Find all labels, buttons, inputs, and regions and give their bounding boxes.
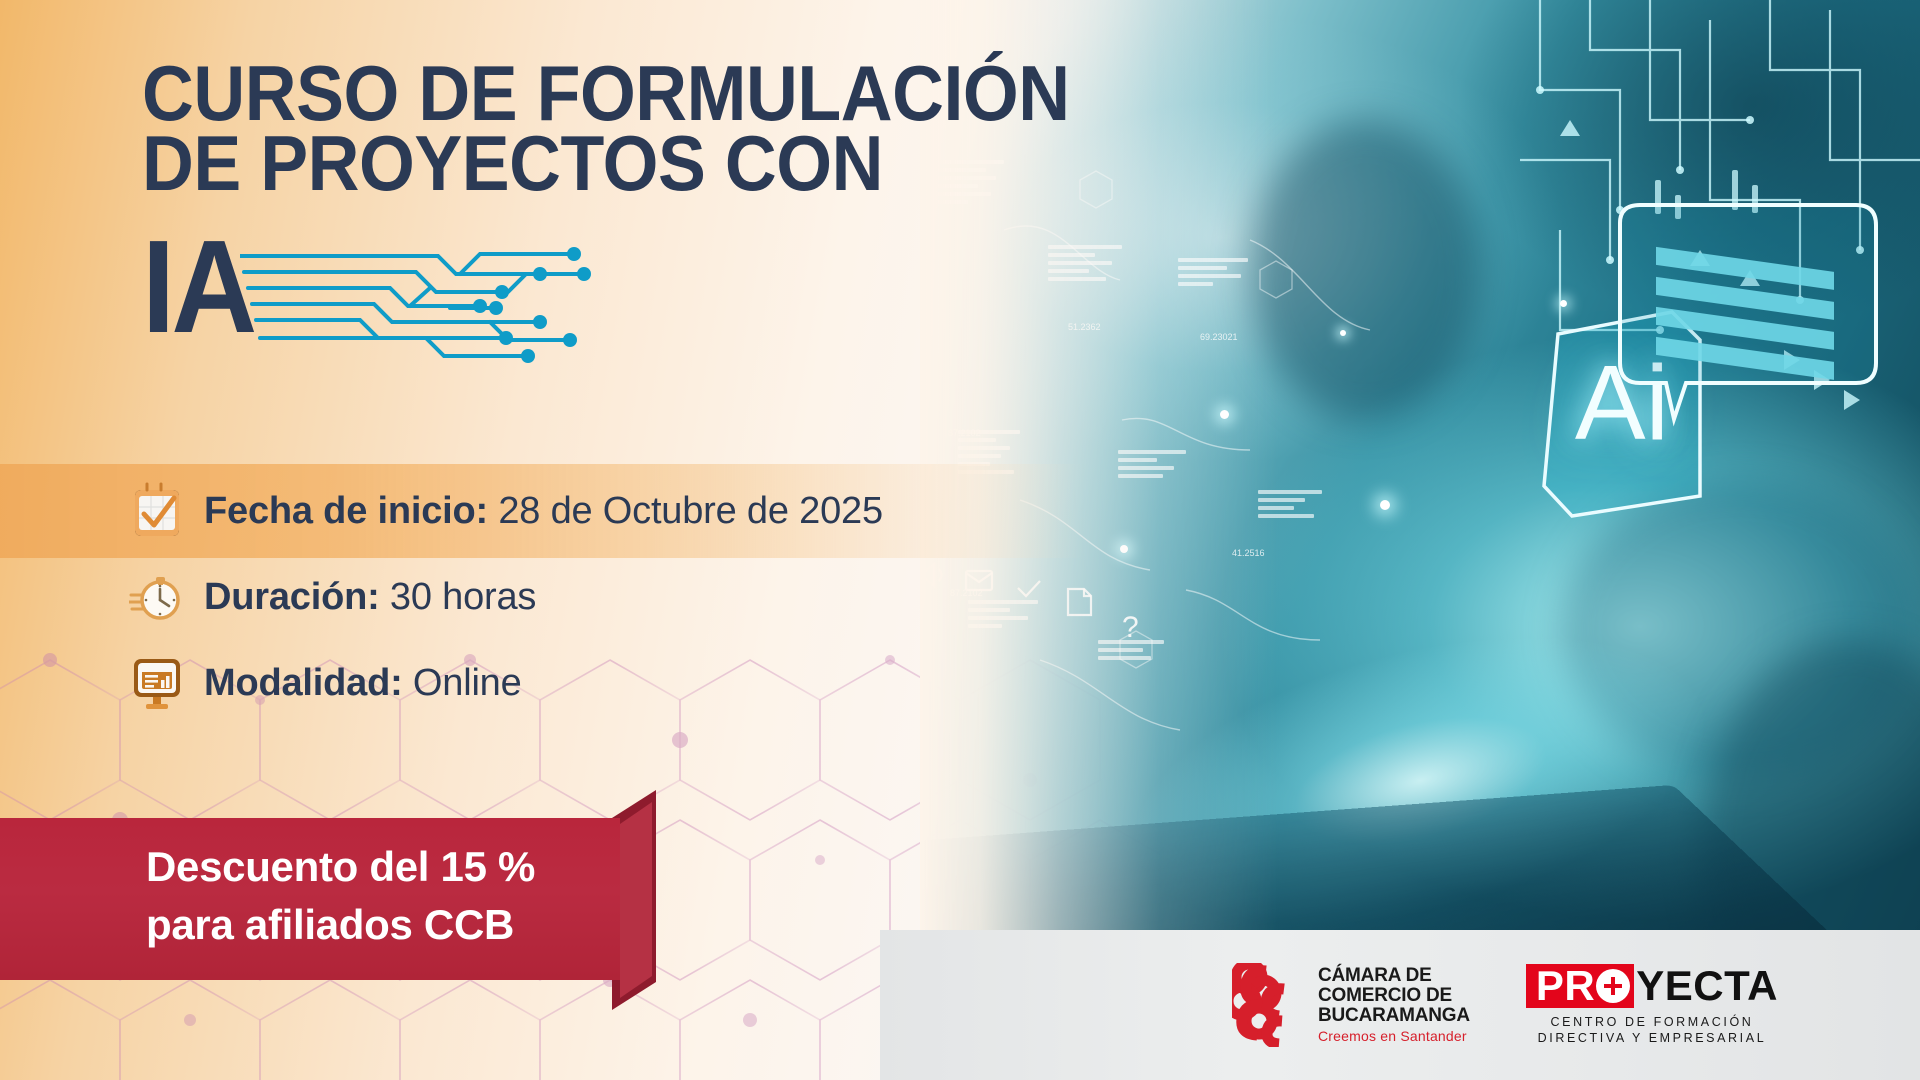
banner-content: CURSO DE FORMULACIÓN DE PROYECTOS CON IA	[0, 0, 1920, 1080]
detail-row-duration: Duración: 30 horas	[126, 556, 883, 638]
ccb-logo: CÁMARA DE COMERCIO DE BUCARAMANGA Creemo…	[1232, 963, 1470, 1047]
detail-label-modality: Modalidad:	[204, 662, 403, 704]
ia-acronym: IA	[142, 228, 254, 346]
ribbon-fold-tail	[612, 790, 692, 1010]
detail-value-duration: 30 horas	[390, 576, 536, 618]
proyecta-yecta-text: YECTA	[1636, 964, 1778, 1008]
detail-text-start-date: Fecha de inicio: 28 de Octubre de 2025	[204, 490, 883, 533]
stopwatch-icon	[126, 566, 188, 628]
ccb-logo-tagline: Creemos en Santander	[1318, 1028, 1470, 1044]
course-details-list: Fecha de inicio: 28 de Octubre de 2025	[126, 470, 883, 728]
detail-row-modality: Modalidad: Online	[126, 642, 883, 724]
detail-label-duration: Duración:	[204, 576, 380, 618]
logo-strip: CÁMARA DE COMERCIO DE BUCARAMANGA Creemo…	[880, 930, 1920, 1080]
ccb-logo-mark	[1232, 963, 1306, 1047]
proyecta-logo: PR YECTA CENTRO DE FORMACIÓN DIRECTIVA Y…	[1526, 964, 1778, 1046]
proyecta-tagline: CENTRO DE FORMACIÓN DIRECTIVA Y EMPRESAR…	[1526, 1014, 1778, 1046]
detail-value-modality: Online	[413, 662, 522, 704]
ia-lockup: IA	[142, 228, 600, 376]
proyecta-wordmark: PR YECTA	[1526, 964, 1778, 1008]
discount-ribbon-text: Descuento del 15 % para afiliados CCB	[146, 838, 535, 954]
calendar-check-icon	[126, 480, 188, 542]
promotional-banner: 51.2362 69.23021 87.2102 41.2516 87.2102…	[0, 0, 1920, 1080]
monitor-presentation-icon	[126, 652, 188, 714]
proyecta-pro-block: PR	[1526, 964, 1634, 1008]
page-title: CURSO DE FORMULACIÓN DE PROYECTOS CON	[142, 58, 1070, 198]
detail-text-modality: Modalidad: Online	[204, 662, 522, 705]
ccb-logo-text: CÁMARA DE COMERCIO DE BUCARAMANGA Creemo…	[1318, 966, 1470, 1044]
detail-row-start-date: Fecha de inicio: 28 de Octubre de 2025	[126, 470, 883, 552]
ccb-logo-name: CÁMARA DE COMERCIO DE BUCARAMANGA	[1318, 966, 1470, 1026]
proyecta-plus-circle-icon	[1596, 969, 1630, 1003]
detail-text-duration: Duración: 30 horas	[204, 576, 536, 619]
detail-label-start-date: Fecha de inicio:	[204, 490, 488, 532]
ia-circuit-traces	[240, 246, 600, 376]
proyecta-pro-text: PR	[1536, 964, 1595, 1008]
detail-value-start-date: 28 de Octubre de 2025	[498, 490, 883, 532]
